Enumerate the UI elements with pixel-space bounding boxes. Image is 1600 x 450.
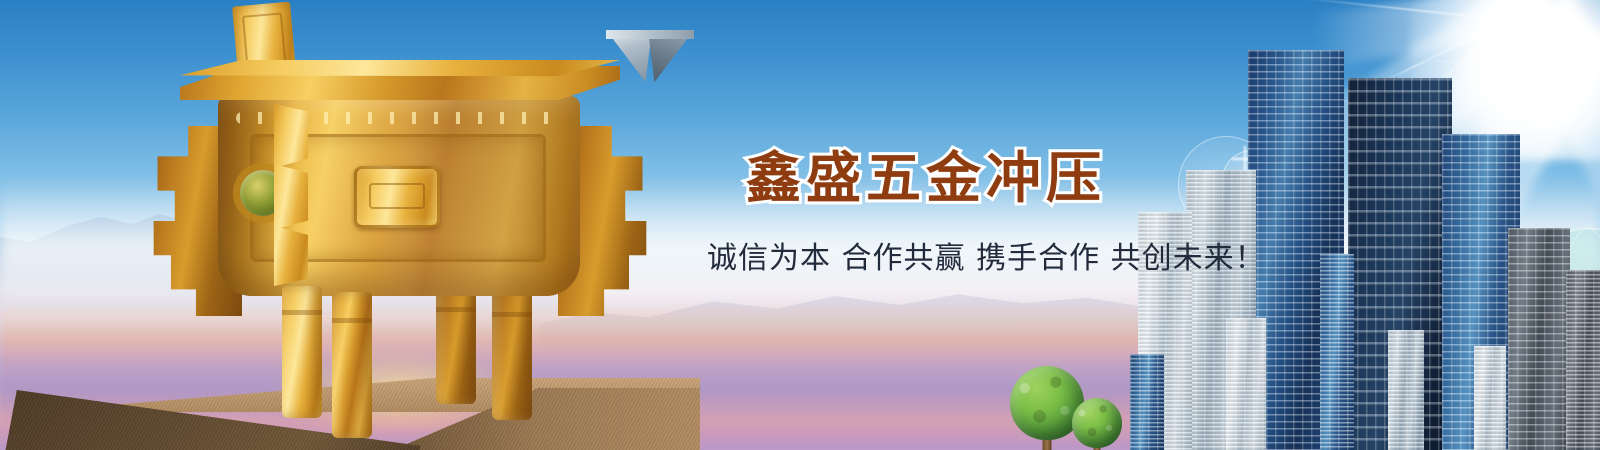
ding-leg: [282, 286, 322, 418]
ding-corner-flange: [274, 104, 308, 286]
building-window-grid: [1474, 346, 1506, 450]
banner-title: 鑫盛五金冲压: [746, 133, 1166, 213]
building-window-grid: [1226, 318, 1266, 450]
tower-low-front-b: [1388, 330, 1424, 450]
building-window-grid: [1508, 228, 1570, 450]
inverted-metal-pyramid-icon: [606, 30, 694, 82]
building-window-grid: [1130, 354, 1164, 450]
ding-leg: [332, 292, 372, 438]
tower-low-front-d: [1130, 354, 1164, 450]
ding-leg: [436, 286, 476, 404]
tower-grey-slim: [1566, 270, 1600, 450]
banner-subtitle: 诚信为本 合作共赢 携手合作 共创未来！: [707, 233, 1227, 277]
tower-grey-block: [1508, 228, 1570, 450]
tower-mid-glass: [1320, 254, 1354, 450]
ding-leg: [492, 288, 532, 420]
building-window-grid: [1566, 270, 1600, 450]
promo-banner: 鑫盛五金冲压 诚信为本 合作共赢 携手合作 共创未来！: [0, 0, 1600, 450]
pyramid-face-top: [606, 30, 694, 39]
tower-low-front-a: [1226, 318, 1266, 450]
tree-canopy: [1072, 398, 1122, 448]
building-window-grid: [1388, 330, 1424, 450]
tree-small: [1072, 398, 1122, 450]
building-window-grid: [1320, 254, 1354, 450]
tree-trunk: [1043, 440, 1052, 450]
city-skyline-icon: [1130, 0, 1600, 450]
tower-low-front-c: [1474, 346, 1506, 450]
golden-ding-cauldron-icon: [140, 0, 660, 420]
ding-cartouche: [354, 166, 440, 228]
